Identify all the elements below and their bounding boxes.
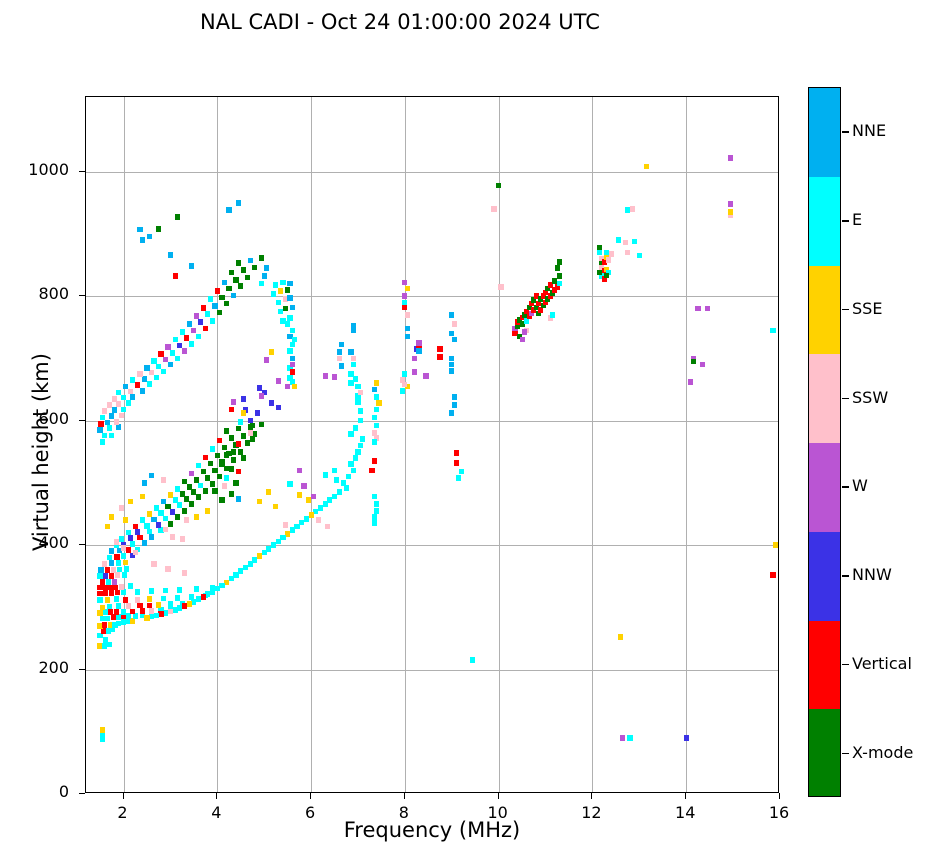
data-point [184,496,189,502]
colorbar-segment [809,177,840,266]
data-point [287,481,292,487]
data-point [372,387,377,393]
y-axis-tick-label: 200 [9,658,69,677]
data-point [372,494,377,500]
data-point [557,273,562,279]
data-point [97,591,102,597]
data-point [147,511,152,517]
data-point [224,301,229,307]
data-point [100,605,105,611]
data-point [620,735,625,741]
data-point [351,362,356,368]
data-point [105,616,110,622]
data-point [224,452,229,458]
data-point [306,497,311,503]
data-point [107,555,112,561]
data-point [728,201,733,207]
data-point [184,335,189,341]
data-point [177,502,182,508]
colorbar-segment [809,88,840,177]
data-point [606,257,611,263]
data-point [292,384,297,390]
data-point [304,516,309,522]
data-point [224,580,229,586]
data-point [241,410,246,416]
data-point [105,420,110,426]
colorbar-tick [842,131,849,133]
scatter-data-layer [86,97,778,792]
data-point [770,328,775,334]
data-point [625,250,630,256]
data-point [290,305,295,311]
data-point [257,553,262,559]
data-point [149,614,154,620]
data-point [287,281,292,287]
data-point [154,613,159,619]
data-point [115,590,120,596]
data-point [217,310,222,316]
data-point [695,306,700,312]
colorbar-label: SSW [852,388,888,407]
data-point [203,455,208,461]
data-point [173,337,178,343]
y-axis-label: Virtual height (km) [29,252,53,652]
data-point [241,267,246,273]
data-point [449,362,454,368]
data-point [219,295,224,301]
data-point [290,362,295,368]
data-point [470,657,475,663]
data-point [122,572,127,578]
data-point [184,517,189,523]
data-point [189,501,194,507]
data-point [231,449,236,455]
data-point [770,572,775,578]
data-point [158,351,163,357]
data-point [147,234,152,240]
data-point [416,340,421,346]
data-point [236,469,241,475]
data-point [151,517,156,523]
data-point [147,381,152,387]
data-point [276,539,281,545]
data-point [156,602,161,608]
data-point [290,527,295,533]
data-point [175,356,180,362]
data-point [229,407,234,413]
data-point [189,341,194,347]
data-point [130,394,135,400]
x-axis-tick [404,793,405,799]
data-point [637,253,642,259]
data-point [231,293,236,299]
data-point [163,588,168,594]
colorbar-segment [809,443,840,532]
data-point [137,227,142,233]
data-point [632,239,637,245]
data-point [374,501,379,507]
colorbar-label: SSE [852,299,882,318]
data-point [215,586,220,592]
data-point [147,603,152,609]
data-point [210,446,215,452]
data-point [130,609,135,615]
data-point [416,348,421,354]
data-point [276,378,281,384]
data-point [173,273,178,279]
data-point [109,573,114,579]
data-point [215,453,220,459]
data-point [182,603,187,609]
colorbar-tick [842,309,849,311]
data-point [121,395,126,401]
data-point [374,508,379,514]
data-point [109,413,114,419]
data-point [283,306,288,312]
data-point [168,362,173,368]
data-point [170,350,175,356]
data-point [212,468,217,474]
data-point [348,431,353,437]
data-point [126,547,131,553]
colorbar-segment [809,354,840,443]
data-point [189,471,194,477]
data-point [130,541,135,547]
data-point [182,508,187,514]
data-point [358,443,363,449]
data-point [405,334,410,340]
data-point [217,474,222,480]
data-point [252,557,257,563]
colorbar-segment [809,621,840,710]
colorbar-segment [809,532,840,621]
data-point [269,400,274,406]
data-point [259,393,264,399]
colorbar-label: E [852,210,862,229]
x-axis-tick [216,793,217,799]
data-point [402,293,407,299]
data-point [140,608,145,614]
data-point [437,354,442,360]
data-point [236,260,241,266]
colorbar-tick [842,220,849,222]
data-point [283,522,288,528]
data-point [285,321,290,327]
data-point [236,496,241,502]
data-point [259,281,264,287]
data-point [323,472,328,478]
data-point [109,590,114,596]
data-point [452,394,457,400]
x-axis-tick [123,793,124,799]
data-point [773,542,778,548]
data-point [175,486,180,492]
y-axis-tick [79,295,85,296]
data-point [102,561,107,567]
data-point [229,270,234,276]
data-point [405,286,410,292]
data-point [229,466,234,472]
data-point [327,497,332,503]
data-point [114,419,119,425]
data-point [402,280,407,286]
data-point [121,407,126,413]
data-point [285,531,290,537]
data-point [257,385,262,391]
data-point [236,426,241,432]
data-point [231,457,236,463]
data-point [252,265,257,271]
data-point [147,596,152,602]
data-point [498,284,503,290]
colorbar-label: X-mode [852,743,913,762]
data-point [728,209,733,215]
data-point [358,418,363,424]
data-point [100,579,105,585]
data-point [128,535,133,541]
data-point [292,337,297,343]
page-title: NAL CADI - Oct 24 01:00:00 2024 UTC [0,10,800,34]
data-point [264,265,269,271]
data-point [360,436,365,442]
data-point [332,374,337,380]
data-point [609,251,614,257]
data-point [297,492,302,498]
colorbar-tick [842,664,849,666]
data-point [222,280,227,286]
data-point [372,458,377,464]
data-point [163,357,168,363]
data-point [123,597,128,603]
data-point [337,349,342,355]
data-point [700,362,705,368]
data-point [158,510,163,516]
data-point [273,504,278,510]
data-point [133,550,138,556]
data-point [423,373,428,379]
data-point [109,433,114,439]
data-point [597,245,602,251]
data-point [348,349,353,355]
data-point [116,560,121,566]
data-point [119,584,124,590]
colorbar-tick [842,486,849,488]
data-point [156,364,161,370]
data-point [496,183,501,189]
data-point [112,407,117,413]
data-point [346,474,351,480]
data-point [229,435,234,441]
data-point [161,499,166,505]
colorbar-label: NNE [852,121,886,140]
data-point [198,483,203,489]
data-point [222,445,227,451]
data-point [297,468,302,474]
data-point [112,579,117,585]
data-point [372,520,377,526]
x-axis-tick [591,793,592,799]
data-point [140,237,145,243]
data-point [100,736,105,742]
data-point [212,303,217,309]
data-point [103,590,108,596]
data-point [196,494,201,500]
data-point [290,369,295,375]
data-point [524,318,529,324]
data-point [219,461,224,467]
data-point [236,200,241,206]
data-point [142,376,147,382]
plot-area [85,96,779,793]
data-point [107,585,112,591]
data-point [243,565,248,571]
data-point [106,579,111,585]
data-point [149,534,154,540]
data-point [323,501,328,507]
data-point [100,439,105,445]
data-point [222,483,227,489]
data-point [452,321,457,327]
colorbar-label: NNW [852,565,892,584]
data-point [112,396,117,402]
data-point [103,573,108,579]
colorbar [808,87,841,797]
data-point [358,408,363,414]
data-point [684,735,689,741]
data-point [351,468,356,474]
data-point [140,388,145,394]
data-point [212,488,217,494]
data-point [452,337,457,343]
data-point [102,433,107,439]
data-point [250,436,255,442]
data-point [369,468,374,474]
data-point [294,524,299,530]
data-point [233,572,238,578]
data-point [355,384,360,390]
data-point [452,402,457,408]
data-point [557,259,562,265]
data-point [705,306,710,312]
data-point [309,512,314,518]
data-point [175,514,180,520]
data-point [140,494,145,500]
data-point [337,356,342,362]
data-point [115,572,120,578]
y-axis-tick [79,793,85,794]
data-point [402,382,407,388]
data-point [161,369,166,375]
data-point [257,499,262,505]
data-point [147,529,152,535]
data-point [156,226,161,232]
data-point [224,428,229,434]
data-point [205,508,210,514]
data-point [273,282,278,288]
data-point [177,605,182,611]
data-point [103,637,108,643]
data-point [311,494,316,500]
data-point [111,567,116,573]
data-point [107,425,112,431]
data-point [121,553,126,559]
data-point [266,489,271,495]
data-point [550,312,555,318]
data-point [180,491,185,497]
data-point [105,524,110,530]
data-point [196,334,201,340]
data-point [156,522,161,528]
data-point [449,331,454,337]
data-point [117,567,122,573]
data-point [100,727,105,733]
data-point [177,343,182,349]
data-point [217,438,222,444]
data-point [173,607,178,613]
ionogram-figure: NAL CADI - Oct 24 01:00:00 2024 UTC 2468… [0,0,951,856]
colorbar-tick [842,398,849,400]
data-point [107,604,112,610]
data-point [353,376,358,382]
data-point [348,461,353,467]
data-point [262,550,267,556]
data-point [170,534,175,540]
data-point [616,237,621,243]
data-point [203,326,208,332]
data-point [173,497,178,503]
data-point [269,349,274,355]
data-point [316,517,321,523]
data-point [318,505,323,511]
data-point [149,370,154,376]
data-point [168,252,173,258]
data-point [449,312,454,318]
y-axis-tick [79,669,85,670]
data-point [285,287,290,293]
data-point [194,313,199,319]
data-point [111,614,116,620]
data-point [374,423,379,429]
colorbar-segment [809,709,840,797]
data-point [158,611,163,617]
data-point [121,609,126,615]
data-point [97,573,102,579]
data-point [203,488,208,494]
data-point [372,415,377,421]
colorbar-segment [809,266,840,355]
data-point [123,560,128,566]
data-point [128,499,133,505]
data-point [163,516,168,522]
data-point [168,609,173,615]
data-point [248,258,253,264]
data-point [210,481,215,487]
y-axis-tick-label: 1000 [9,160,69,179]
data-point [196,463,201,469]
data-point [187,321,192,327]
data-point [205,591,210,597]
data-point [149,473,154,479]
data-point [168,492,173,498]
data-point [285,384,290,390]
data-point [163,610,168,616]
data-point [229,491,234,497]
data-point [412,356,417,362]
data-point [280,535,285,541]
data-point [151,561,156,567]
data-point [124,566,129,572]
data-point [109,548,114,554]
